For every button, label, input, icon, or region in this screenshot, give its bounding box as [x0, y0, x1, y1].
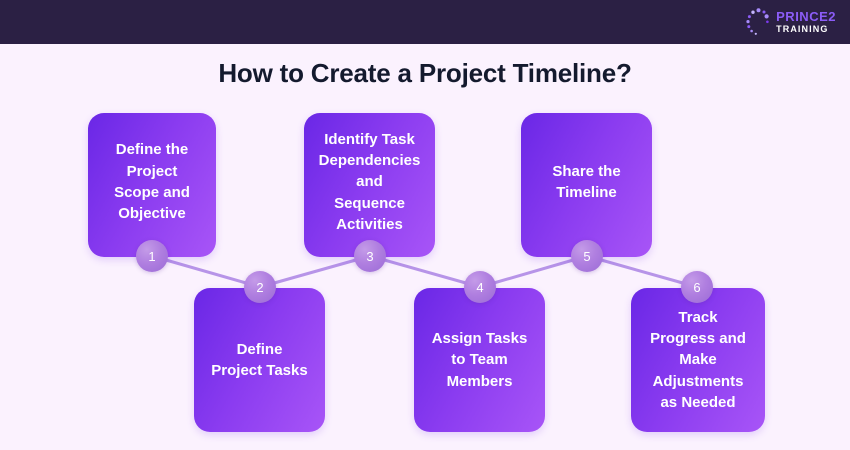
infographic-canvas: PRINCE2 TRAINING How to Create a Project…	[0, 0, 850, 450]
step-badge-5[interactable]: 5	[571, 240, 603, 272]
timeline-flow: Define theProjectScope andObjective1Defi…	[0, 0, 850, 450]
step-badge-3[interactable]: 3	[354, 240, 386, 272]
step-label-1: Define theProjectScope andObjective	[114, 139, 190, 230]
step-card-1[interactable]: Define theProjectScope andObjective	[88, 113, 216, 257]
step-card-3[interactable]: Identify TaskDependenciesandSequenceActi…	[304, 113, 435, 257]
step-label-6: TrackProgress andMakeAdjustmentsas Neede…	[650, 307, 746, 413]
step-badge-1[interactable]: 1	[136, 240, 168, 272]
step-card-2[interactable]: DefineProject Tasks	[194, 288, 325, 432]
step-card-5[interactable]: Share theTimeline	[521, 113, 652, 257]
connector-2-to-3	[260, 256, 370, 287]
step-card-6[interactable]: TrackProgress andMakeAdjustmentsas Neede…	[631, 288, 765, 432]
step-badge-4[interactable]: 4	[464, 271, 496, 303]
step-label-2: DefineProject Tasks	[211, 339, 307, 382]
step-label-5: Share theTimeline	[552, 161, 620, 210]
step-badge-6[interactable]: 6	[681, 271, 713, 303]
step-badge-2[interactable]: 2	[244, 271, 276, 303]
step-label-3: Identify TaskDependenciesandSequenceActi…	[319, 129, 421, 241]
step-card-4[interactable]: Assign Tasksto TeamMembers	[414, 288, 545, 432]
step-label-4: Assign Tasksto TeamMembers	[432, 328, 528, 392]
